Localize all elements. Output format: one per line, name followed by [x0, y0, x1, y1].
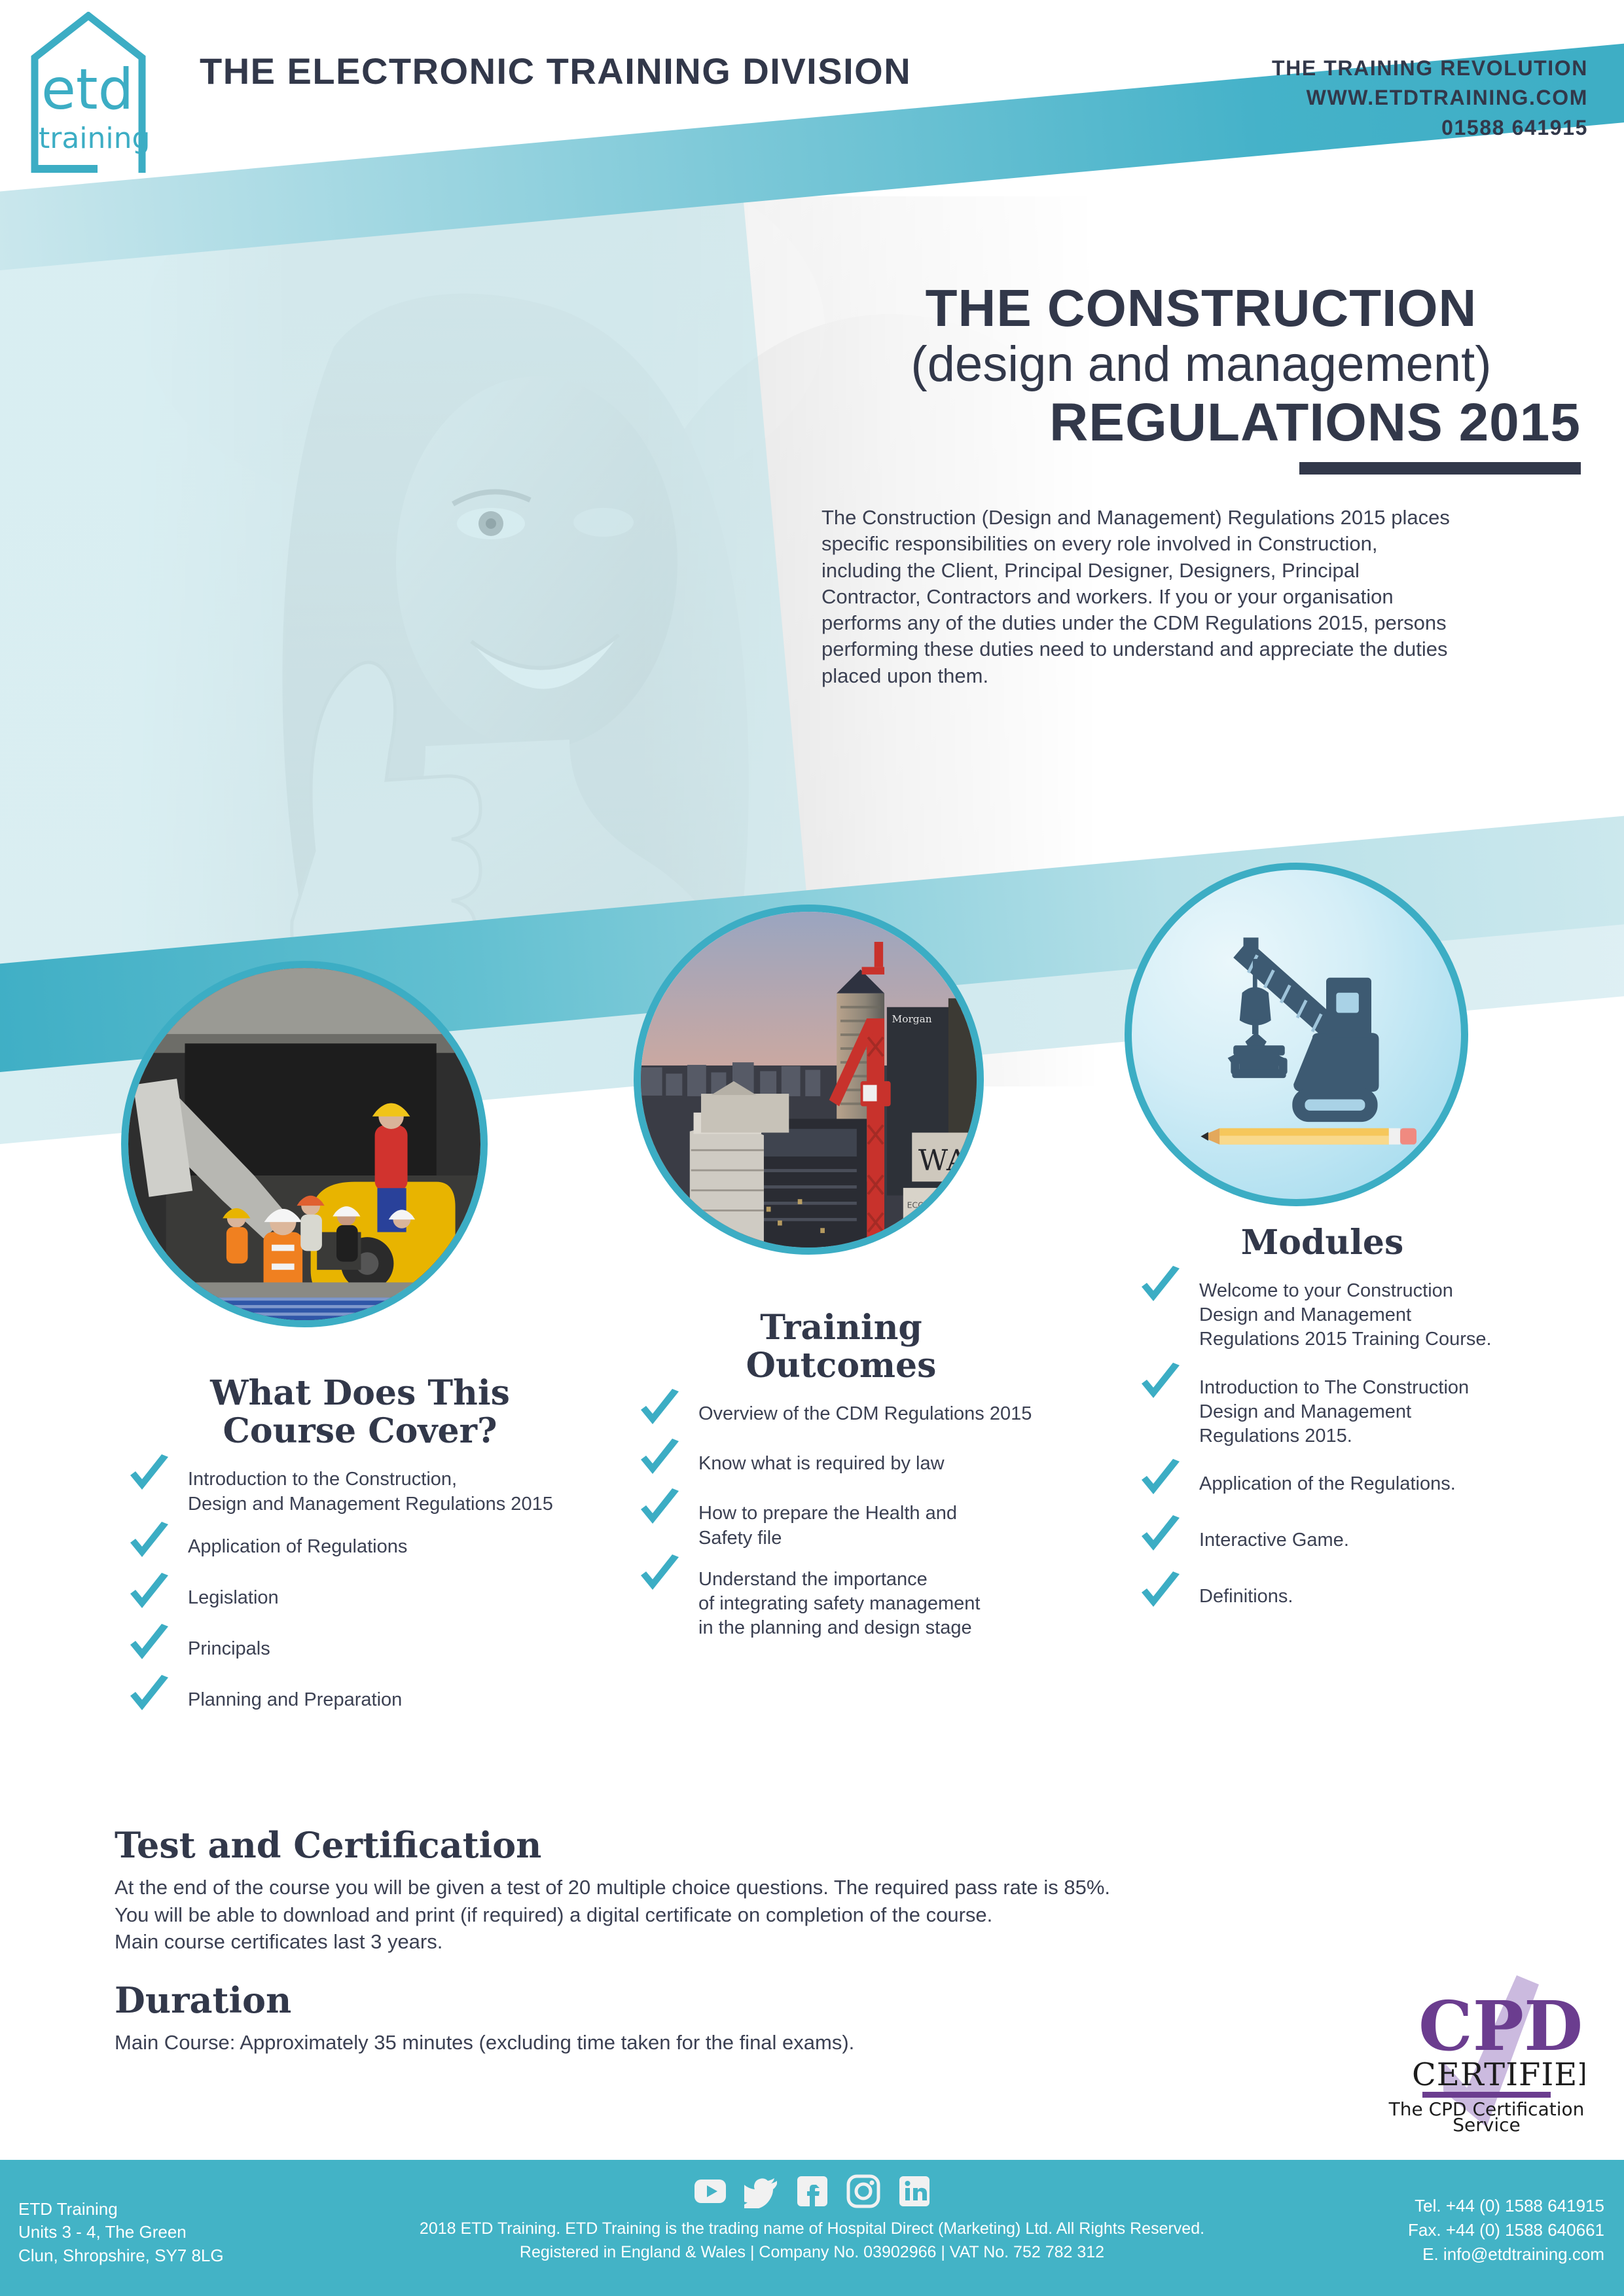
- duration-section: Duration Main Course: Approximately 35 m…: [115, 1981, 1424, 2056]
- list-item: Know what is required by law: [625, 1448, 1083, 1484]
- hero-paragraph: The Construction (Design and Management)…: [821, 505, 1463, 689]
- check-icon: [638, 1388, 681, 1431]
- city-skyline-photo: Morgan: [634, 905, 984, 1255]
- modules-column: Modules Welcome to your ConstructionDesi…: [1126, 1224, 1597, 1637]
- heading-line-2: Outcomes: [599, 1347, 1083, 1385]
- instagram-icon[interactable]: [846, 2174, 880, 2208]
- header-contact: THE TRAINING REVOLUTION WWW.ETDTRAINING.…: [1272, 54, 1588, 143]
- test-certification-body: At the end of the course you will be giv…: [115, 1874, 1424, 1955]
- check-icon: [128, 1571, 171, 1615]
- check-icon: [128, 1674, 171, 1717]
- list-item-label: Understand the importanceof integrating …: [698, 1564, 1083, 1640]
- svg-text:Service: Service: [1453, 2114, 1520, 2134]
- check-icon: [128, 1453, 171, 1496]
- list-item-label: Definitions.: [1199, 1581, 1597, 1609]
- header-phone: 01588 641915: [1272, 113, 1588, 143]
- list-item-label: Application of the Regulations.: [1199, 1468, 1597, 1496]
- heading-line-1: Training: [599, 1309, 1083, 1347]
- list-item-label: Planning and Preparation: [188, 1684, 612, 1712]
- test-certification-section: Test and Certification At the end of the…: [115, 1826, 1424, 1955]
- cpd-certified-logo: CPD CERTIFIED The CPD Certification Serv…: [1388, 1964, 1585, 2134]
- facebook-icon[interactable]: [795, 2174, 829, 2208]
- course-cover-column: What Does This Course Cover? Introductio…: [115, 1374, 612, 1735]
- website-link[interactable]: WWW.ETDTRAINING.COM: [1272, 83, 1588, 113]
- heading-line-2: Course Cover?: [108, 1412, 612, 1450]
- construction-workers-photo: [121, 961, 488, 1327]
- hero-text-block: THE CONSTRUCTION (design and management)…: [821, 281, 1581, 689]
- check-icon: [638, 1553, 681, 1596]
- list-item: Principals: [115, 1633, 612, 1670]
- tagline: THE TRAINING REVOLUTION: [1272, 54, 1588, 83]
- etd-training-logo: etd training: [23, 12, 173, 174]
- youtube-icon[interactable]: [693, 2174, 727, 2208]
- svg-text:ballym: ballym: [936, 1214, 967, 1225]
- list-item-label: Welcome to your ConstructionDesign and M…: [1199, 1275, 1597, 1352]
- list-item: Interactive Game.: [1126, 1524, 1597, 1561]
- check-icon: [1139, 1361, 1182, 1405]
- footer-copyright-line-2: Registered in England & Wales | Company …: [0, 2241, 1624, 2265]
- footer-tel: Tel. +44 (0) 1588 641915: [1408, 2194, 1604, 2218]
- social-links: [0, 2174, 1624, 2208]
- training-outcomes-heading: Training Outcomes: [599, 1309, 1083, 1385]
- course-cover-heading: What Does This Course Cover?: [108, 1374, 612, 1450]
- svg-text:training: training: [39, 122, 150, 155]
- test-certification-heading: Test and Certification: [115, 1826, 1424, 1865]
- check-icon: [1139, 1514, 1182, 1557]
- svg-text:ECOWORLD: ECOWORLD: [907, 1200, 956, 1210]
- list-item-label: Application of Regulations: [188, 1531, 612, 1559]
- diagonal-wash: [0, 194, 809, 999]
- page-footer: ETD TrainingUnits 3 - 4, The GreenClun, …: [0, 2160, 1624, 2296]
- list-item-label: How to prepare the Health andSafety file: [698, 1498, 1083, 1550]
- list-item: Legislation: [115, 1582, 612, 1619]
- cpd-wordmark: CPD: [1418, 1986, 1583, 2066]
- list-item-label: Legislation: [188, 1582, 612, 1610]
- twitter-icon[interactable]: [744, 2174, 778, 2208]
- list-item: Introduction to The ConstructionDesign a…: [1126, 1372, 1597, 1448]
- linkedin-icon[interactable]: [897, 2174, 931, 2208]
- crane-pencil-icon: [1125, 863, 1468, 1206]
- page-header: etd training THE ELECTRONIC TRAINING DIV…: [0, 0, 1624, 190]
- training-outcomes-column: Training Outcomes Overview of the CDM Re…: [625, 1309, 1083, 1653]
- list-item-label: Introduction to The ConstructionDesign a…: [1199, 1372, 1597, 1448]
- list-item: Understand the importanceof integrating …: [625, 1564, 1083, 1640]
- check-icon: [1139, 1265, 1182, 1308]
- list-item-label: Overview of the CDM Regulations 2015: [698, 1398, 1083, 1426]
- check-icon: [638, 1437, 681, 1480]
- hero-title-line-2: (design and management): [821, 336, 1581, 392]
- list-item: Overview of the CDM Regulations 2015: [625, 1398, 1083, 1435]
- feature-columns: What Does This Course Cover? Introductio…: [0, 1348, 1624, 1820]
- list-item-label: Know what is required by law: [698, 1448, 1083, 1476]
- section-spacer: [115, 1955, 1424, 1981]
- check-icon: [128, 1623, 171, 1666]
- hero-title-line-1: THE CONSTRUCTION: [821, 281, 1581, 335]
- course-cover-list: Introduction to the Construction,Design …: [115, 1463, 612, 1720]
- list-item: Definitions.: [1126, 1581, 1597, 1617]
- modules-list: Welcome to your ConstructionDesign and M…: [1126, 1275, 1597, 1617]
- footer-fax: Fax. +44 (0) 1588 640661: [1408, 2218, 1604, 2242]
- list-item: Planning and Preparation: [115, 1684, 612, 1721]
- bottom-sections: Test and Certification At the end of the…: [115, 1826, 1424, 2056]
- footer-center: 2018 ETD Training. ETD Training is the t…: [0, 2174, 1624, 2264]
- svg-text:etd: etd: [41, 57, 134, 122]
- check-icon: [128, 1520, 171, 1564]
- list-item: Introduction to the Construction,Design …: [115, 1463, 612, 1516]
- svg-text:CERTIFIED: CERTIFIED: [1412, 2056, 1585, 2093]
- list-item: Application of the Regulations.: [1126, 1468, 1597, 1505]
- list-item: How to prepare the Health andSafety file: [625, 1498, 1083, 1550]
- list-item-label: Principals: [188, 1633, 612, 1661]
- footer-contact: Tel. +44 (0) 1588 641915 Fax. +44 (0) 15…: [1408, 2194, 1604, 2267]
- duration-body: Main Course: Approximately 35 minutes (e…: [115, 2029, 1424, 2056]
- list-item: Welcome to your ConstructionDesign and M…: [1126, 1275, 1597, 1352]
- check-icon: [638, 1487, 681, 1530]
- svg-text:Morgan: Morgan: [892, 1013, 932, 1025]
- poster-page: Morgan: [0, 0, 1624, 2296]
- list-item-label: Introduction to the Construction,Design …: [188, 1463, 612, 1516]
- hero-title-line-3: REGULATIONS 2015: [821, 395, 1581, 450]
- heading-line-1: What Does This: [108, 1374, 612, 1412]
- modules-heading: Modules: [1047, 1224, 1597, 1262]
- page-title: THE ELECTRONIC TRAINING DIVISION: [200, 50, 911, 92]
- footer-copyright-line-1: 2018 ETD Training. ETD Training is the t…: [0, 2217, 1624, 2241]
- list-item-label: Interactive Game.: [1199, 1524, 1597, 1552]
- training-outcomes-list: Overview of the CDM Regulations 2015 Kno…: [625, 1398, 1083, 1640]
- title-underline: [1299, 462, 1581, 475]
- list-item: Application of Regulations: [115, 1531, 612, 1568]
- footer-email[interactable]: E. info@etdtraining.com: [1408, 2242, 1604, 2267]
- check-icon: [1139, 1570, 1182, 1613]
- heading-line-1: Modules: [1047, 1224, 1597, 1262]
- duration-heading: Duration: [115, 1981, 1424, 2020]
- svg-text:WAD: WAD: [918, 1144, 977, 1177]
- check-icon: [1139, 1458, 1182, 1501]
